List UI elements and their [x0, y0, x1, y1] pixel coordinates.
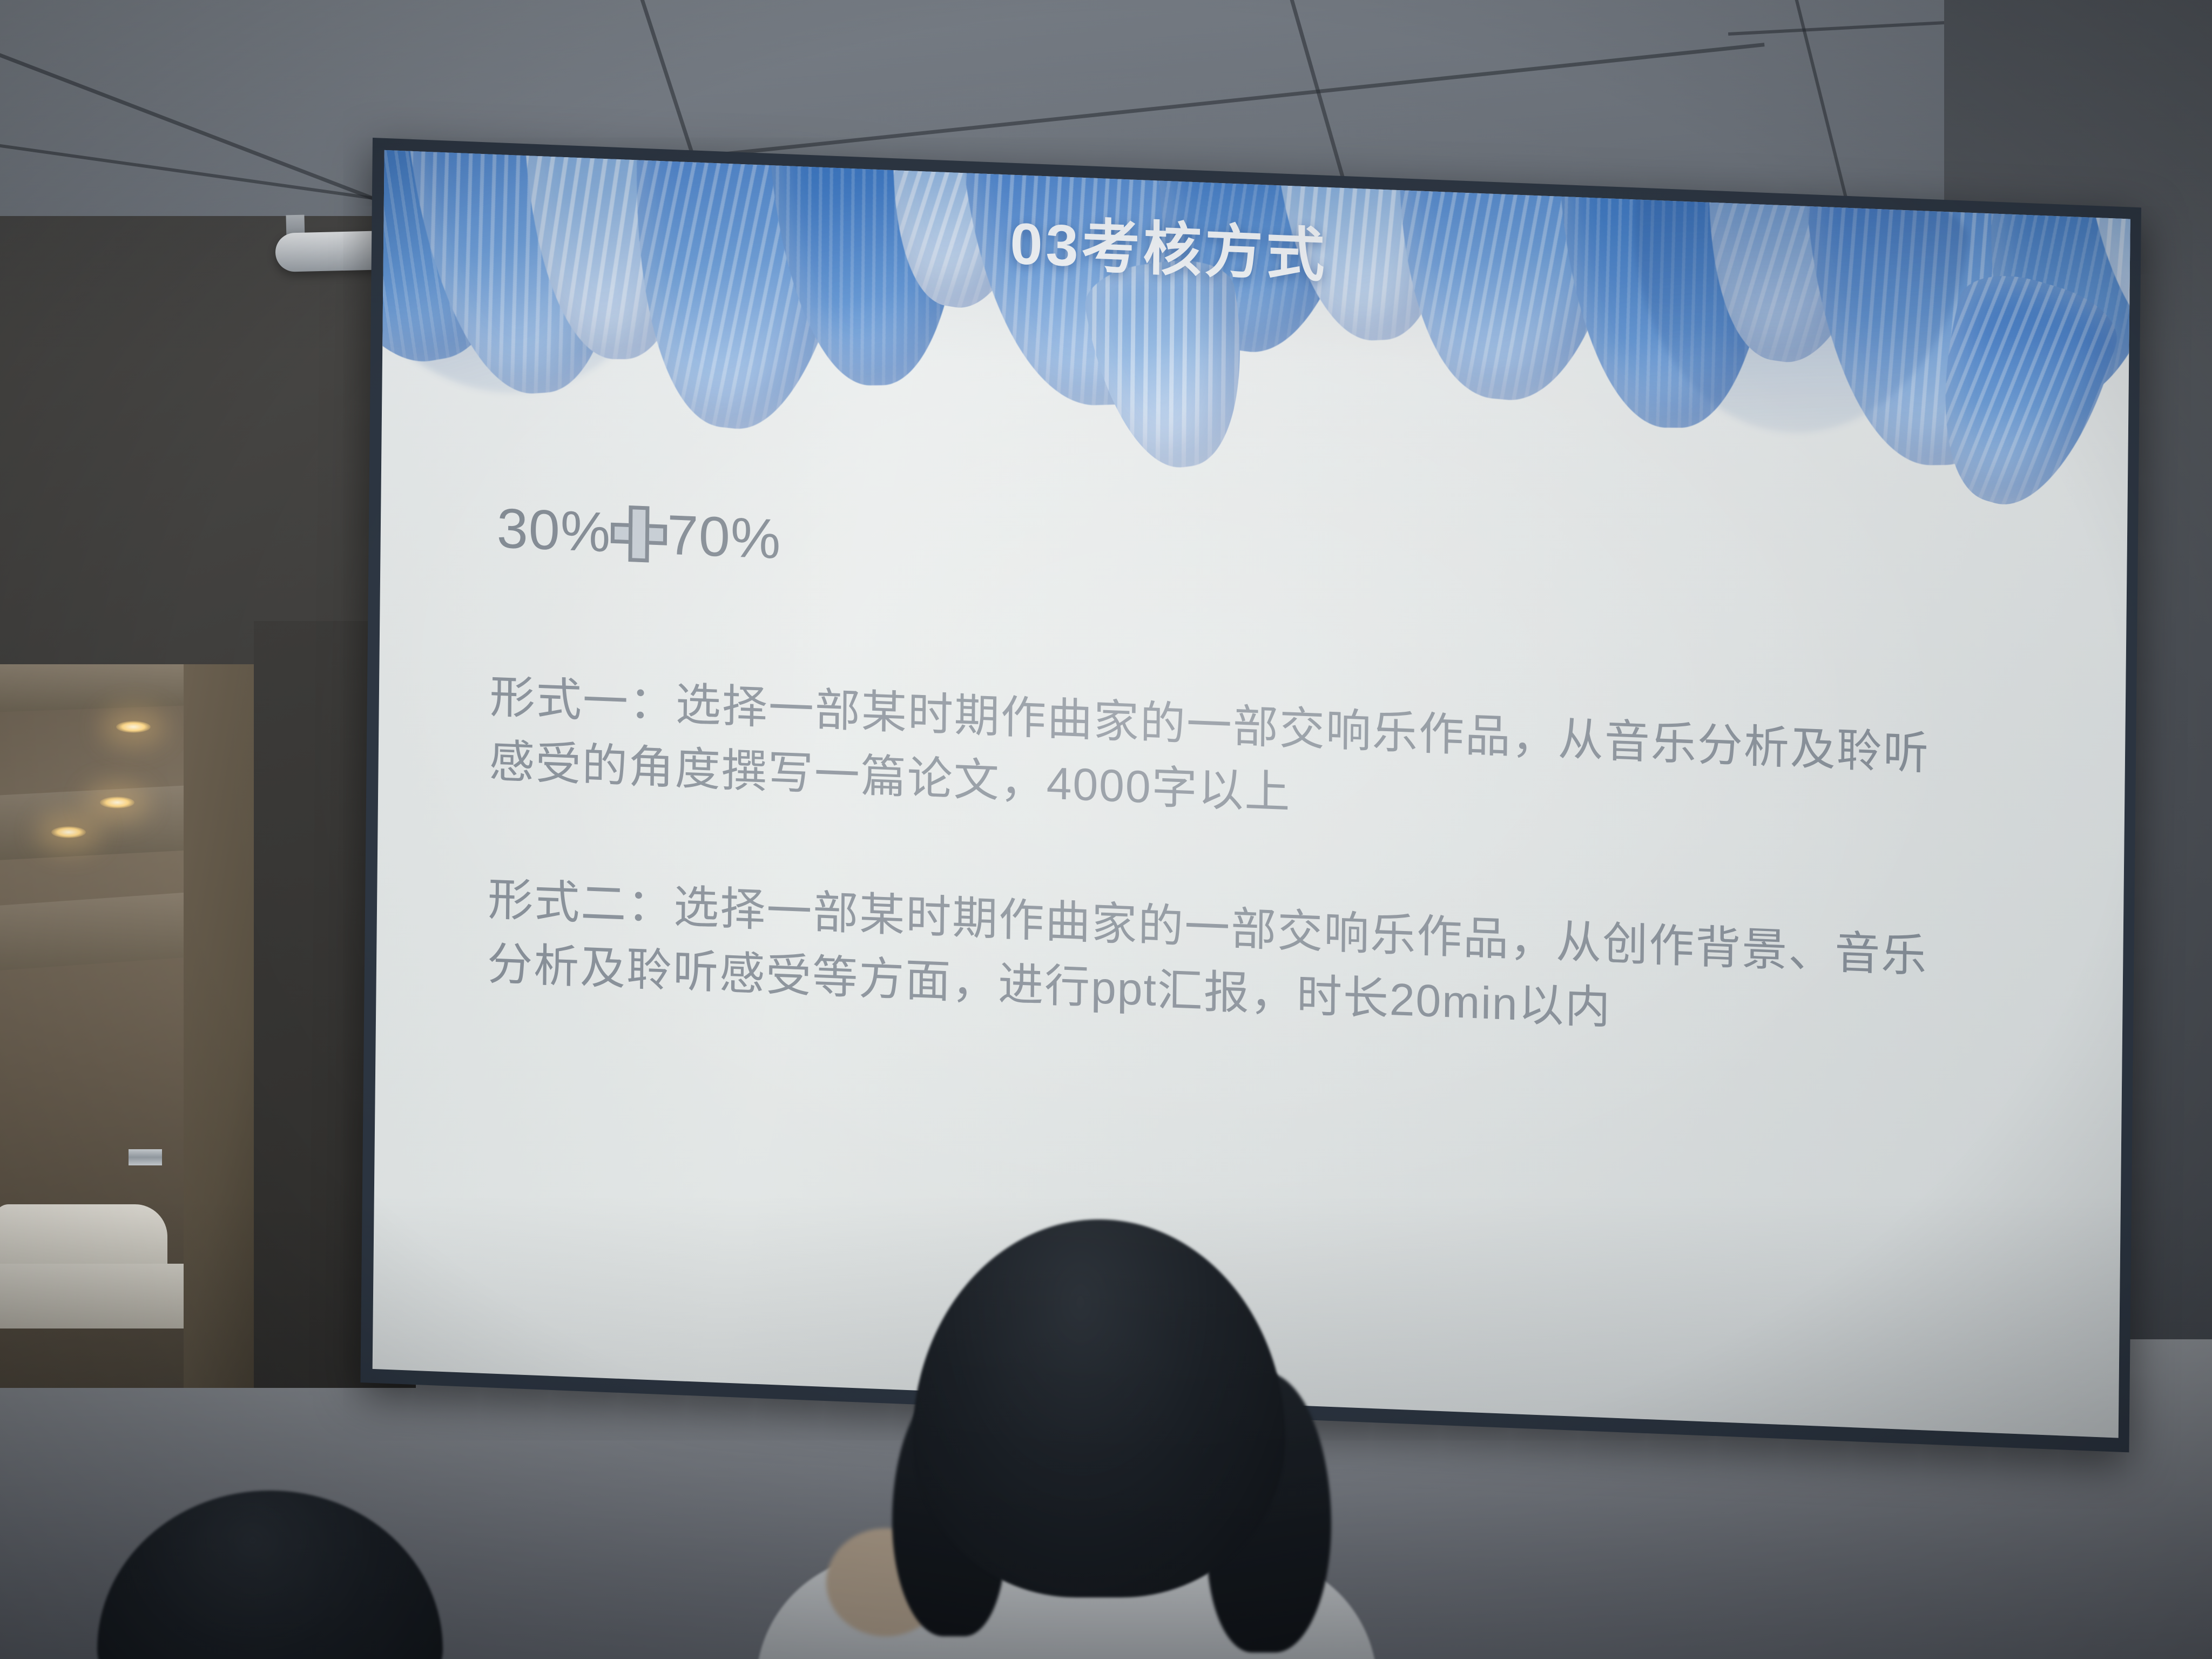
ratio-right-value: 70% — [667, 507, 781, 568]
grading-ratio: 30% 70% — [496, 500, 781, 568]
reception-counter-front — [0, 1264, 194, 1328]
wall-sign — [129, 1149, 162, 1165]
ceiling-downlight — [51, 826, 86, 838]
hallway-pillar — [184, 664, 265, 1388]
ceiling-downlight — [100, 797, 134, 808]
projection-screen-frame: 03考核方式 30% 70% 形式一：选择一部某时期作曲家的一部交响乐作品，从音… — [360, 138, 2141, 1452]
ceiling-downlight — [116, 721, 151, 733]
photo-scene: 03考核方式 30% 70% 形式一：选择一部某时期作曲家的一部交响乐作品，从音… — [0, 0, 2212, 1659]
assessment-form-two: 形式二：选择一部某时期作曲家的一部交响乐作品，从创作背景、音乐分析及聆听感受等方… — [487, 867, 1935, 1053]
plus-icon — [611, 505, 667, 563]
ratio-left-value: 30% — [496, 500, 611, 561]
presentation-slide: 03考核方式 30% 70% 形式一：选择一部某时期作曲家的一部交响乐作品，从音… — [373, 150, 2130, 1438]
assessment-form-one: 形式一：选择一部某时期作曲家的一部交响乐作品，从音乐分析及聆听感受的角度撰写一篇… — [489, 665, 1937, 851]
slide-title: 03考核方式 — [1010, 197, 1328, 293]
